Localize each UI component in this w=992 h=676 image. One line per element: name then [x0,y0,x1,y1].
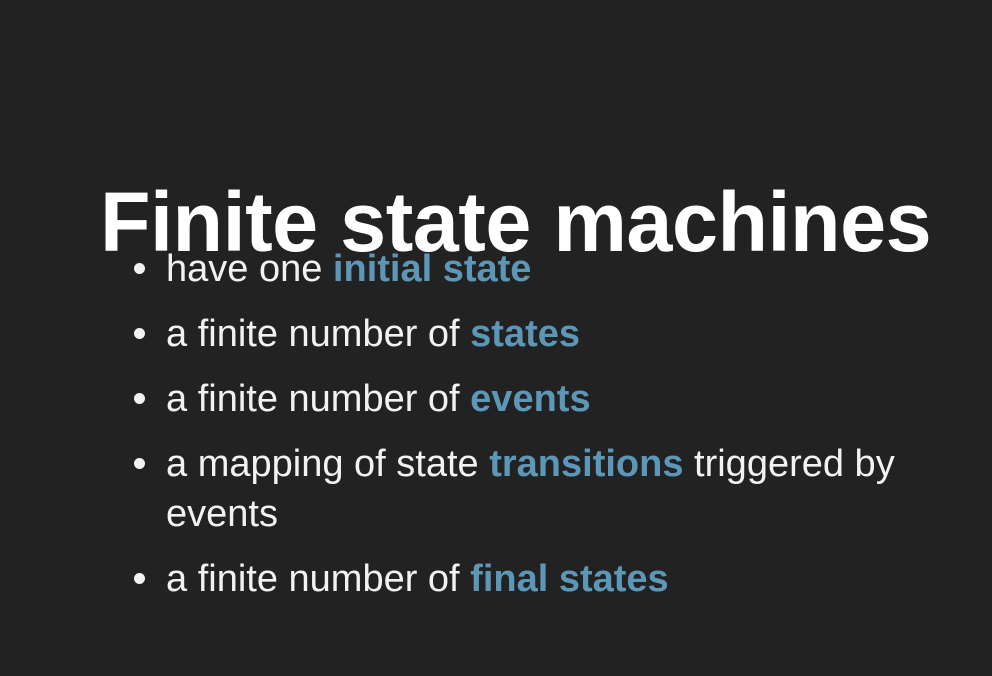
list-item: a mapping of state transitions triggered… [130,439,950,539]
list-item-text: a finite number of events [166,374,950,424]
bullet-point-icon [134,393,145,404]
list-item-text-plain-leading: a finite number of [166,378,470,420]
bullet-point-icon [134,328,145,339]
list-item: a finite number of states [130,309,950,359]
list-item-keyword: events [470,378,590,420]
list-item-text: a finite number of states [166,309,950,359]
bullet-point-icon [134,573,145,584]
presentation-slide: Finite state machines have one initial s… [0,0,992,676]
list-item-text: have one initial state [166,244,950,294]
list-item-text-plain-leading: a finite number of [166,313,470,355]
list-item-text: a mapping of state transitions triggered… [166,439,950,539]
bullet-list: have one initial state a finite number o… [130,244,950,604]
list-item-keyword: initial state [333,248,532,290]
list-item-text-plain-leading: have one [166,248,333,290]
list-item-text: a finite number of final states [166,554,950,604]
bullet-point-icon [134,263,145,274]
list-item: have one initial state [130,244,950,294]
list-item: a finite number of final states [130,554,950,604]
list-item-keyword: states [470,313,580,355]
list-item-text-plain-leading: a mapping of state [166,443,489,485]
list-item-keyword: final states [470,558,669,600]
list-item-keyword: transitions [489,443,683,485]
bullet-point-icon [134,458,145,469]
list-item: a finite number of events [130,374,950,424]
list-item-text-plain-leading: a finite number of [166,558,470,600]
